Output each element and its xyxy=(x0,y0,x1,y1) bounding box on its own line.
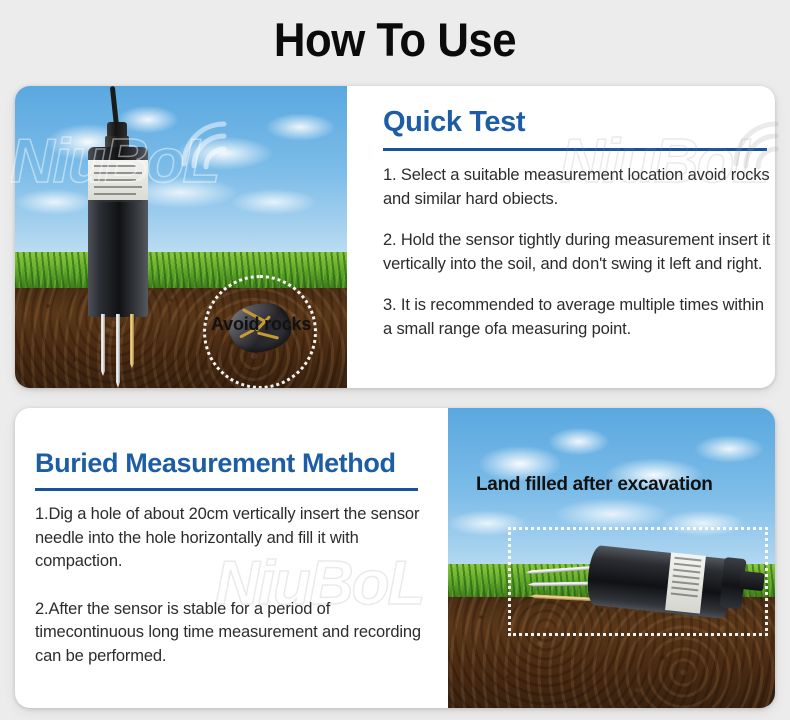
buried-measurement-heading: Buried Measurement Method xyxy=(35,448,396,479)
buried-measurement-steps: 1.Dig a hole of about 20cm vertically in… xyxy=(35,503,425,692)
step-item: 2. Hold the sensor tightly during measur… xyxy=(383,229,775,276)
sensor-needle xyxy=(101,314,105,376)
sky-background xyxy=(15,86,347,273)
buried-measurement-card: Buried Measurement Method 1.Dig a hole o… xyxy=(15,408,775,708)
sensor-label-sticker xyxy=(88,160,148,200)
horizontal-soil-sensor xyxy=(526,546,762,616)
step-item: 1.Dig a hole of about 20cm vertically in… xyxy=(35,503,425,574)
sensor-body xyxy=(585,545,735,620)
quick-test-steps: 1. Select a suitable measurement locatio… xyxy=(383,164,775,359)
buried-measurement-panel: Buried Measurement Method 1.Dig a hole o… xyxy=(15,408,448,708)
sensor-needle xyxy=(130,314,134,368)
step-item: 1. Select a suitable measurement locatio… xyxy=(383,164,775,211)
quick-test-panel: Quick Test 1. Select a suitable measurem… xyxy=(368,86,775,388)
avoid-rocks-caption: Avoid rocks xyxy=(211,314,311,335)
step-item: 2.After the sensor is stable for a perio… xyxy=(35,598,425,669)
step-item: 3. It is recommended to average multiple… xyxy=(383,294,775,341)
quick-test-photo: Avoid rocks xyxy=(15,86,347,388)
how-to-use-page: How To Use xyxy=(0,0,790,720)
quick-test-heading: Quick Test xyxy=(383,106,525,139)
sensor-needle xyxy=(526,566,596,575)
heading-divider xyxy=(35,488,418,491)
buried-measurement-photo: Land filled after excavation xyxy=(448,408,775,708)
quick-test-card: Avoid rocks Quick Test 1. Select a suita… xyxy=(15,86,775,388)
sensor-cable-plug xyxy=(739,571,765,591)
sensor-label-sticker xyxy=(665,552,706,613)
page-title: How To Use xyxy=(28,9,763,71)
sensor-needle xyxy=(116,314,120,388)
land-filled-caption: Land filled after excavation xyxy=(476,474,713,496)
heading-divider xyxy=(383,148,767,151)
